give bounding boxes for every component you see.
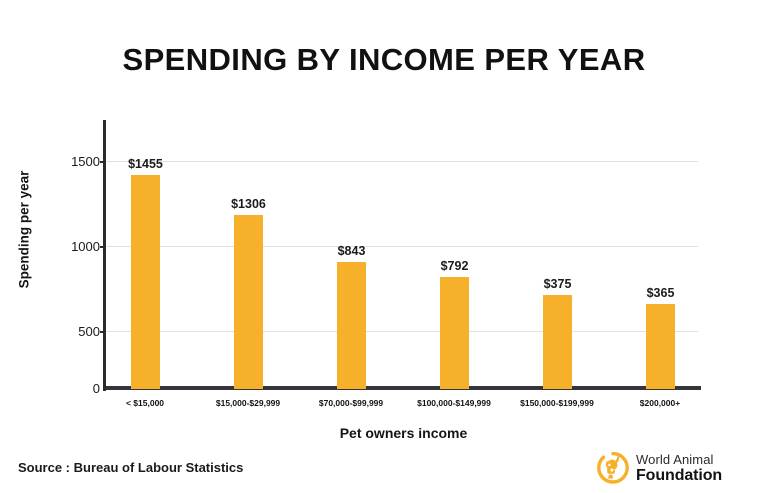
logo-line-1: World Animal bbox=[636, 452, 754, 467]
brand-logo[interactable]: World Animal Foundation bbox=[596, 450, 754, 488]
world-animal-foundation-logo-icon bbox=[596, 451, 630, 485]
bar-value-label: $375 bbox=[506, 278, 609, 291]
bar-group-0[interactable]: $1455 bbox=[94, 120, 197, 389]
bar-value-label: $843 bbox=[300, 245, 403, 258]
y-axis-title: Spending per year bbox=[17, 158, 32, 302]
logo-line-2: Foundation bbox=[636, 467, 754, 485]
source-note: Source : Bureau of Labour Statistics bbox=[18, 460, 243, 476]
bar-value-label: $792 bbox=[403, 260, 506, 273]
bar[interactable] bbox=[440, 277, 469, 389]
bar[interactable] bbox=[131, 175, 160, 389]
y-tick-label-500: 500 bbox=[28, 325, 100, 338]
bar-value-label: $1306 bbox=[197, 198, 300, 211]
bar[interactable] bbox=[646, 304, 675, 389]
x-axis-title: Pet owners income bbox=[106, 425, 701, 441]
bar[interactable] bbox=[337, 262, 366, 389]
plot-area: $1455 $1306 $843 $792 $375 $365 bbox=[106, 120, 698, 389]
bar-group-5[interactable]: $365 bbox=[609, 120, 712, 389]
infographic-chart-page: SPENDING BY INCOME PER YEAR 1500 1000 50… bbox=[0, 0, 768, 493]
bar-group-4[interactable]: $375 bbox=[506, 120, 609, 389]
bar[interactable] bbox=[543, 295, 572, 389]
y-tick-label-0: 0 bbox=[28, 382, 100, 395]
y-tick-label-1000: 1000 bbox=[28, 240, 100, 253]
page-title: SPENDING BY INCOME PER YEAR bbox=[0, 41, 768, 79]
bar-value-label: $365 bbox=[609, 287, 712, 300]
y-axis-ticks: 1500 1000 500 0 bbox=[20, 0, 100, 493]
bar-group-3[interactable]: $792 bbox=[403, 120, 506, 389]
bar[interactable] bbox=[234, 215, 263, 389]
bar-value-label: $1455 bbox=[94, 158, 197, 171]
y-tick-label-1500: 1500 bbox=[28, 155, 100, 168]
x-category-label-5: $200,000+ bbox=[590, 398, 730, 409]
bar-group-1[interactable]: $1306 bbox=[197, 120, 300, 389]
logo-wordmark: World Animal Foundation bbox=[636, 452, 754, 485]
bar-group-2[interactable]: $843 bbox=[300, 120, 403, 389]
